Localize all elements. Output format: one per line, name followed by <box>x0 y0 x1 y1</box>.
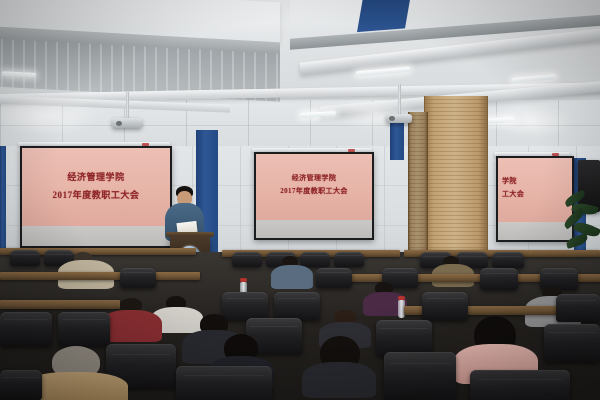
attendee-pink-jacket <box>452 316 540 378</box>
potted-plant <box>560 186 600 256</box>
wood-clad-column-edge <box>408 112 428 260</box>
desk-row <box>0 272 200 280</box>
seat <box>176 366 272 400</box>
projector-mount-pole-left <box>126 92 129 120</box>
plant-leaf <box>565 233 589 249</box>
ceiling-light-glow <box>486 104 576 138</box>
seat <box>316 268 352 288</box>
water-bottle-cap <box>398 296 405 300</box>
seat <box>120 268 156 288</box>
seat <box>58 312 110 346</box>
seat <box>232 252 262 267</box>
slide-right-line1: 学院 <box>498 176 572 186</box>
fluorescent-light-strip <box>512 74 556 83</box>
seat <box>0 370 42 400</box>
attendee-khaki-shirt <box>56 252 116 288</box>
water-bottle-cap <box>240 278 247 282</box>
fluorescent-light-strip <box>356 67 410 77</box>
slide-center-line2: 2017年度教职工大会 <box>256 186 372 196</box>
seat <box>0 312 52 346</box>
seat <box>492 252 524 268</box>
projector-lens-icon <box>116 121 122 126</box>
wall-accent-band-right <box>390 120 404 160</box>
attendee-dark-hair-b <box>300 336 378 394</box>
seat <box>556 294 600 322</box>
attendee-torso <box>271 265 313 289</box>
attendee-torso <box>302 362 376 398</box>
slide-center-footer-band <box>256 220 372 238</box>
slide-left-footer-band <box>22 226 170 246</box>
seat <box>274 292 320 320</box>
seat <box>470 370 570 400</box>
projection-screen-center: 经济管理学院 2017年度教职工大会 <box>254 152 374 240</box>
conference-hall-photo: 经济管理学院 2017年度教职工大会 经济管理学院 2017年度教职工大会 学院… <box>0 0 600 400</box>
wall-accent-band-mid <box>0 146 6 258</box>
attendee-denim-jacket <box>268 256 316 288</box>
seat <box>384 352 456 400</box>
seat <box>10 250 40 266</box>
wood-clad-column <box>424 96 488 260</box>
ceiling-light-glow <box>330 96 420 130</box>
ceiling-blue-accent <box>357 0 411 32</box>
seat <box>334 252 364 267</box>
seat <box>544 324 600 362</box>
slide-center: 经济管理学院 2017年度教职工大会 <box>256 154 372 220</box>
seat <box>480 268 518 290</box>
projector-mount-pole-right <box>398 84 401 116</box>
slide-center-line1: 经济管理学院 <box>256 173 372 183</box>
projection-screen-left: 经济管理学院 2017年度教职工大会 <box>20 146 172 248</box>
slide-left-line2: 2017年度教职工大会 <box>22 188 170 201</box>
slide-left-line1: 经济管理学院 <box>22 170 170 183</box>
ceiling <box>0 0 600 150</box>
projector-lens-icon <box>389 116 395 121</box>
slide-left: 经济管理学院 2017年度教职工大会 <box>22 148 170 226</box>
seat <box>376 320 432 356</box>
